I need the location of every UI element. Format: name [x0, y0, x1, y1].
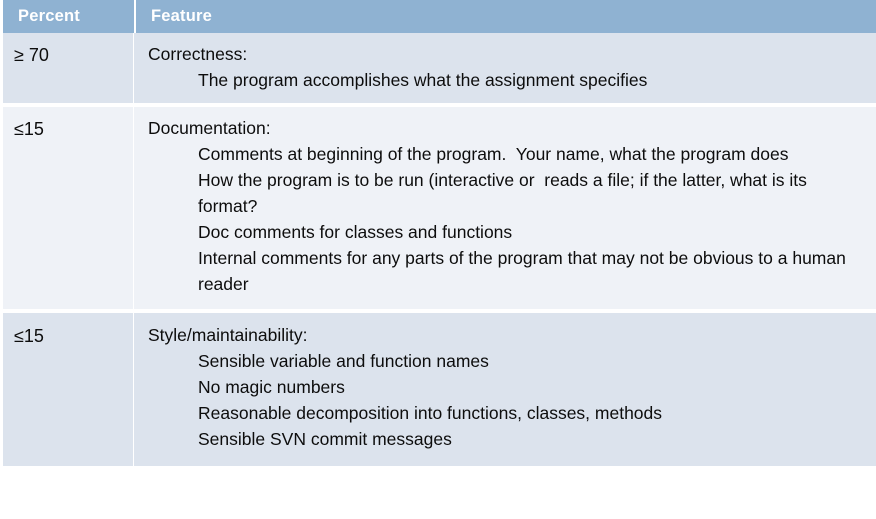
- list-item: Sensible SVN commit messages: [198, 426, 864, 452]
- cell-feature: Style/maintainability: Sensible variable…: [133, 313, 876, 466]
- column-header-percent: Percent: [3, 0, 134, 33]
- cell-percent: ≤15: [3, 107, 133, 309]
- table-header-row: Percent Feature: [0, 0, 876, 33]
- list-item: How the program is to be run (interactiv…: [198, 167, 864, 219]
- feature-item-list: Comments at beginning of the program. Yo…: [148, 141, 864, 297]
- column-header-feature: Feature: [136, 0, 876, 33]
- feature-item-list: The program accomplishes what the assign…: [148, 67, 864, 93]
- feature-item-list: Sensible variable and function names No …: [148, 348, 864, 452]
- list-item: No magic numbers: [198, 374, 864, 400]
- feature-title: Style/maintainability:: [148, 323, 864, 348]
- cell-feature: Correctness: The program accomplishes wh…: [133, 33, 876, 103]
- feature-title: Correctness:: [148, 42, 864, 67]
- feature-title: Documentation:: [148, 116, 864, 141]
- list-item: Sensible variable and function names: [198, 348, 864, 374]
- table-body: ≥ 70 Correctness: The program accomplish…: [3, 33, 876, 470]
- list-item: Doc comments for classes and functions: [198, 219, 864, 245]
- list-item: Reasonable decomposition into functions,…: [198, 400, 864, 426]
- table-bottom-edge: [3, 466, 876, 470]
- table-row: ≤15 Documentation: Comments at beginning…: [3, 107, 876, 309]
- list-item: The program accomplishes what the assign…: [198, 67, 864, 93]
- list-item: Internal comments for any parts of the p…: [198, 245, 864, 297]
- list-item: Comments at beginning of the program. Yo…: [198, 141, 864, 167]
- cell-percent: ≥ 70: [3, 33, 133, 103]
- table-row: ≤15 Style/maintainability: Sensible vari…: [3, 313, 876, 466]
- cell-percent: ≤15: [3, 313, 133, 466]
- grading-criteria-table: Percent Feature ≥ 70 Correctness: The pr…: [0, 0, 876, 519]
- cell-feature: Documentation: Comments at beginning of …: [133, 107, 876, 309]
- table-row: ≥ 70 Correctness: The program accomplish…: [3, 33, 876, 103]
